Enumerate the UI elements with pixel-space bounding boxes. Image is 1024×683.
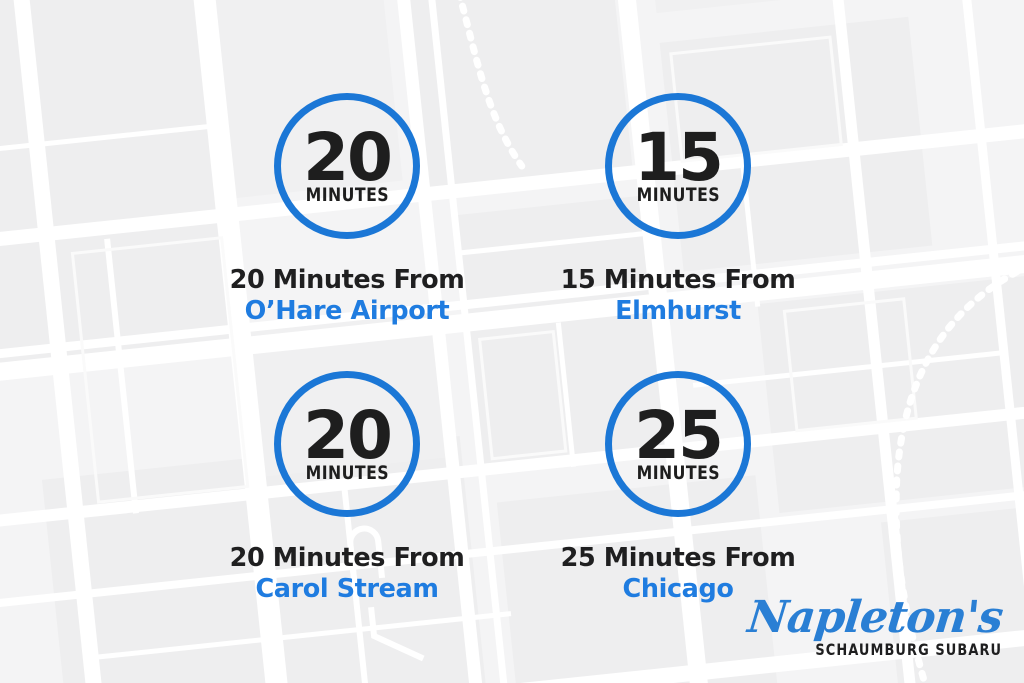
drive-time-card-elmhurst: 15 MINUTES 15 Minutes From Elmhurst <box>508 93 848 327</box>
badge-unit-label: MINUTES <box>636 464 719 483</box>
card-caption: 15 Minutes From Elmhurst <box>508 265 848 327</box>
badge-unit-label: MINUTES <box>305 186 388 205</box>
badge-number: 20 <box>303 131 391 185</box>
drive-time-card-carol-stream: 20 MINUTES 20 Minutes From Carol Stream <box>177 371 517 605</box>
card-caption: 20 Minutes From O’Hare Airport <box>177 265 517 327</box>
drive-time-card-ohare-airport: 20 MINUTES 20 Minutes From O’Hare Airpor… <box>177 93 517 327</box>
badge-number: 20 <box>303 409 391 463</box>
dealership-logo: Napleton's SCHAUMBURG SUBARU <box>748 597 1002 659</box>
badge-number: 25 <box>634 409 722 463</box>
caption-place: Elmhurst <box>508 296 848 327</box>
caption-prefix: 15 Minutes From <box>508 265 848 296</box>
logo-subtitle: SCHAUMBURG SUBARU <box>773 640 1002 659</box>
badge-grid: 20 MINUTES 20 Minutes From O’Hare Airpor… <box>0 0 1024 683</box>
drive-times-graphic: 20 MINUTES 20 Minutes From O’Hare Airpor… <box>0 0 1024 683</box>
caption-place: Carol Stream <box>177 574 517 605</box>
caption-prefix: 25 Minutes From <box>508 543 848 574</box>
badge-unit-label: MINUTES <box>636 186 719 205</box>
caption-prefix: 20 Minutes From <box>177 543 517 574</box>
minutes-badge: 25 MINUTES <box>605 371 751 517</box>
minutes-badge: 20 MINUTES <box>274 93 420 239</box>
badge-unit-label: MINUTES <box>305 464 388 483</box>
caption-prefix: 20 Minutes From <box>177 265 517 296</box>
drive-time-card-chicago: 25 MINUTES 25 Minutes From Chicago <box>508 371 848 605</box>
logo-wordmark: Napleton's <box>746 597 1005 639</box>
minutes-badge: 20 MINUTES <box>274 371 420 517</box>
caption-place: O’Hare Airport <box>177 296 517 327</box>
minutes-badge: 15 MINUTES <box>605 93 751 239</box>
card-caption: 20 Minutes From Carol Stream <box>177 543 517 605</box>
badge-number: 15 <box>634 131 722 185</box>
